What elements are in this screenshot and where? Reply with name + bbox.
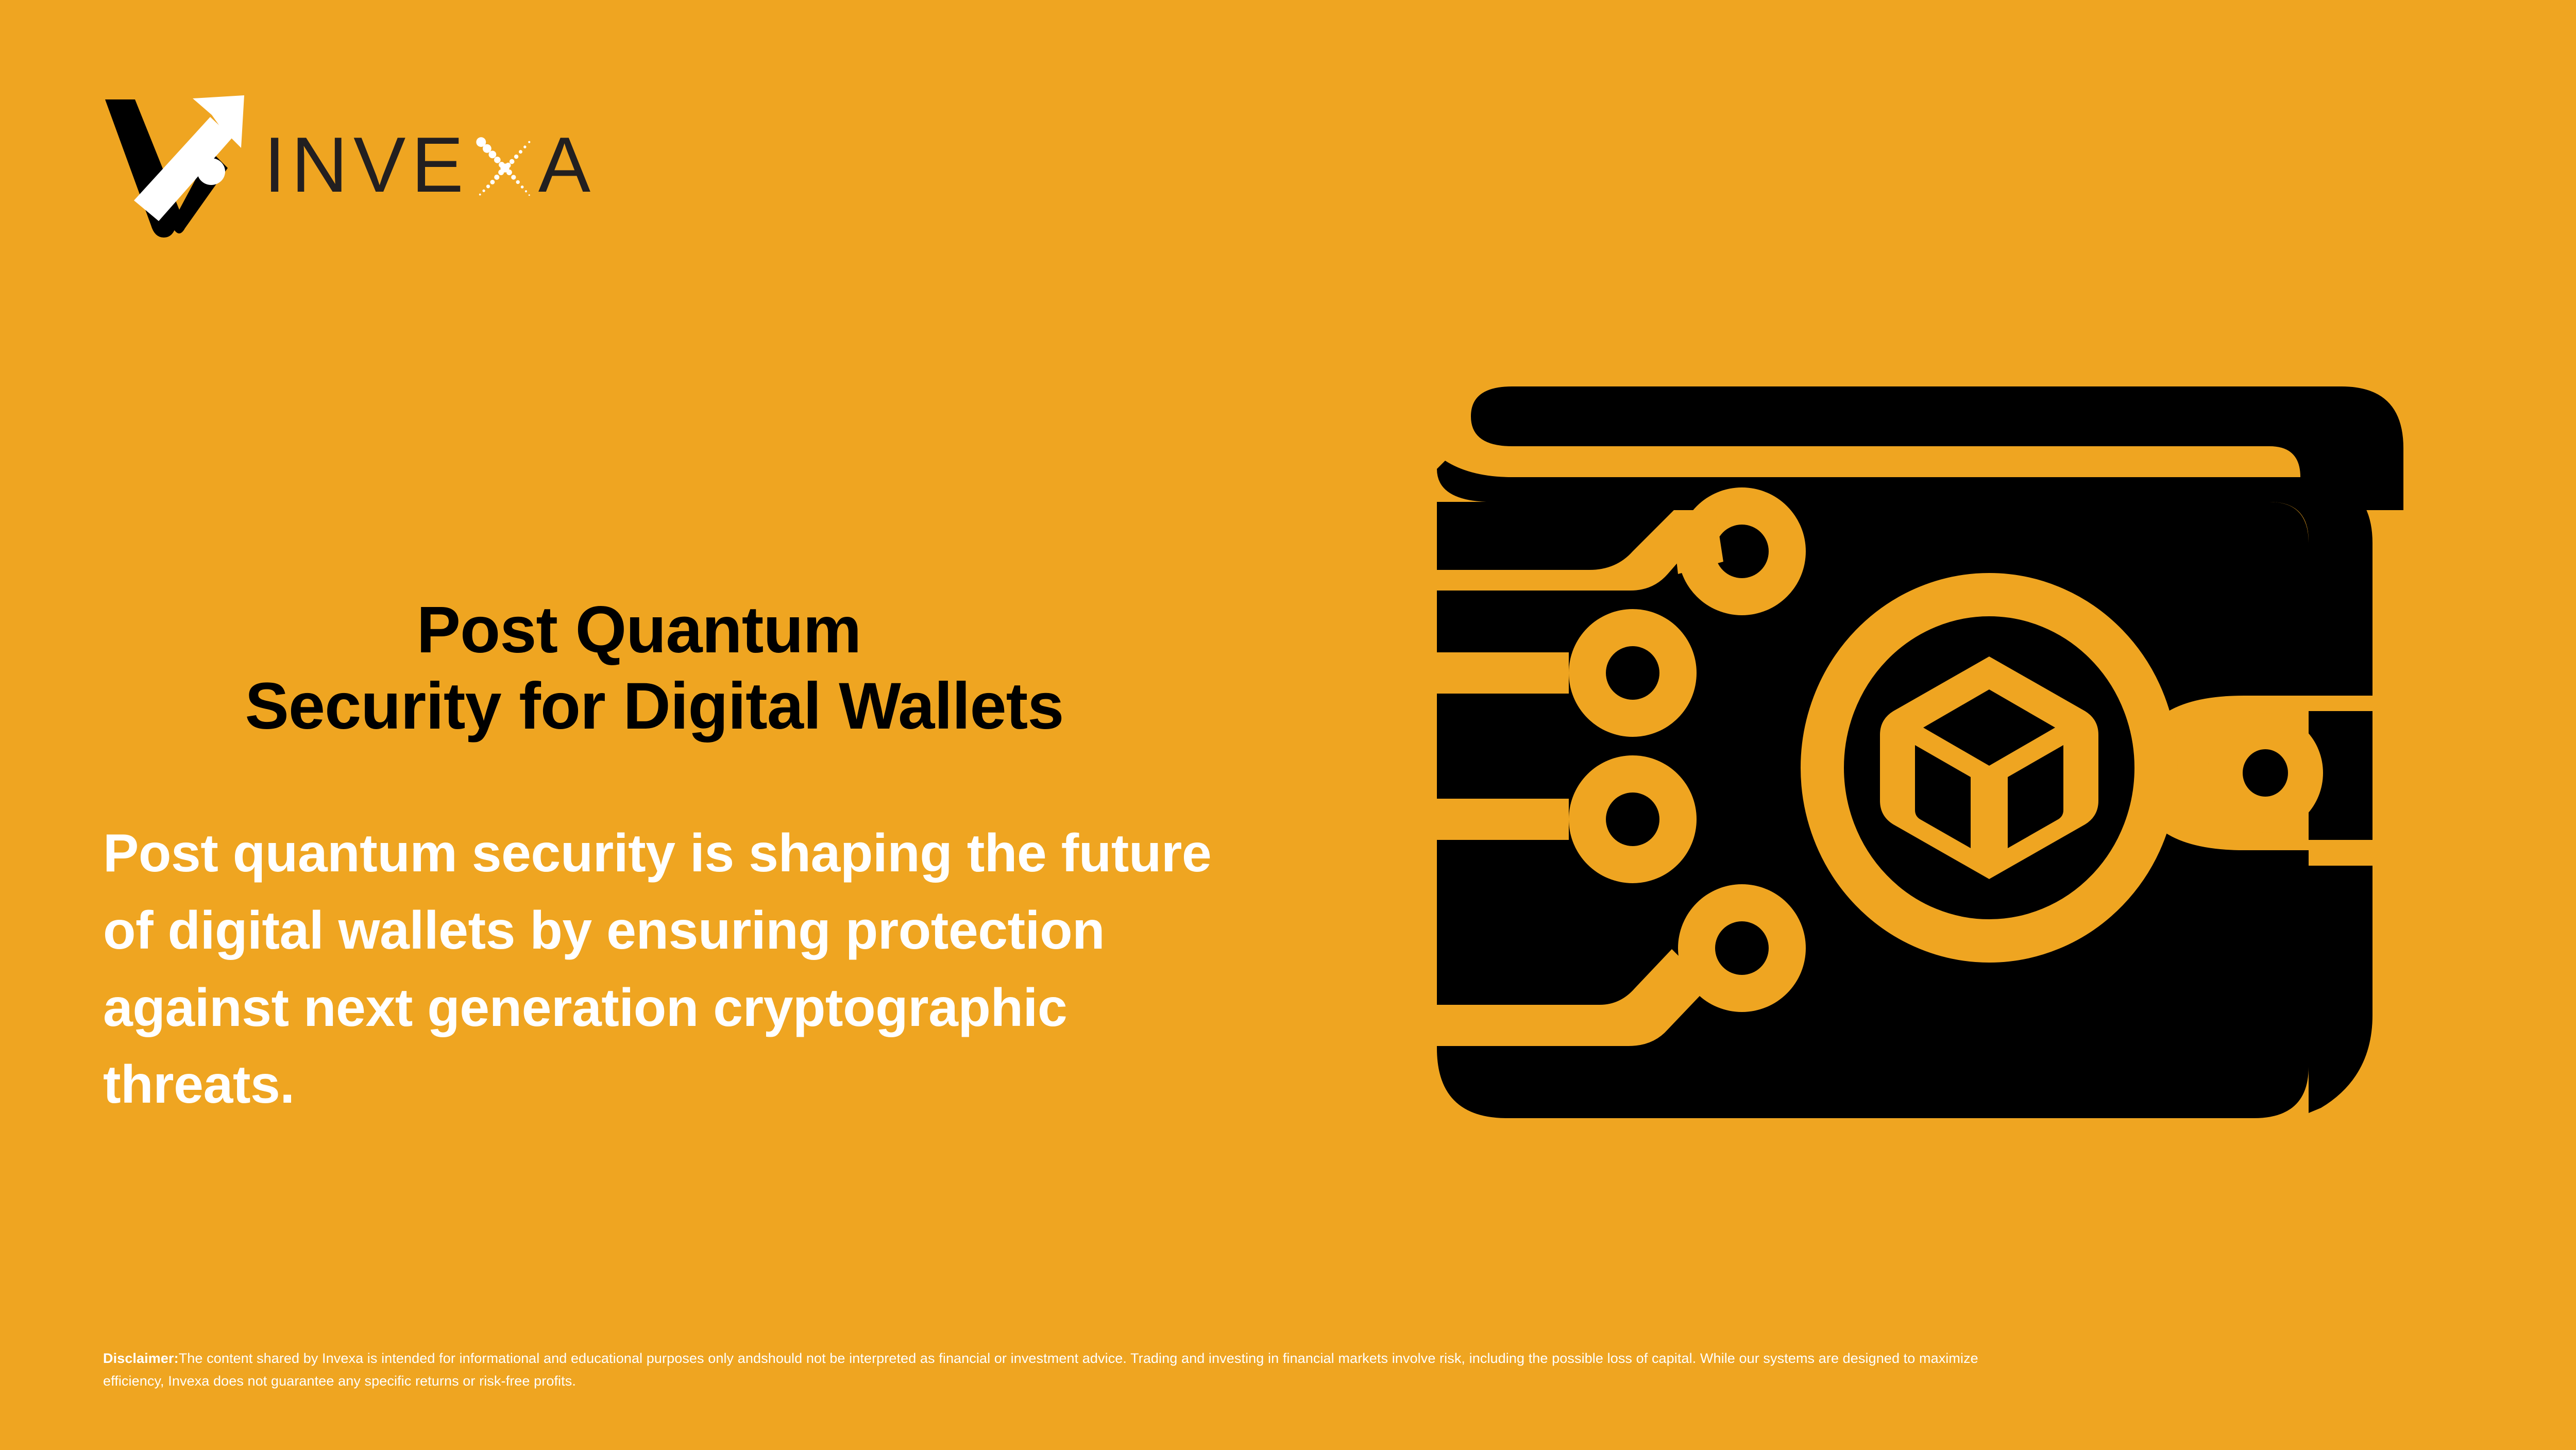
headline-line-2: Security for Digital Wallets <box>103 668 1206 745</box>
page-title: Post Quantum Security for Digital Wallet… <box>103 592 1206 745</box>
clasp-hole <box>2243 749 2288 797</box>
brand-logo[interactable]: INVE <box>101 90 596 240</box>
circuit-wallet-illustration <box>1414 356 2455 1190</box>
wordmark-a: A <box>538 126 596 204</box>
subcopy-paragraph: Post quantum security is shaping the fut… <box>103 815 1267 1124</box>
circuit-pad-hole-2 <box>1606 646 1659 700</box>
v-arrow-growth-icon <box>101 90 250 240</box>
circuit-trace-3 <box>1414 799 1569 840</box>
disclaimer-label: Disclaimer: <box>103 1351 179 1366</box>
disclaimer-body: The content shared by Invexa is intended… <box>103 1351 1978 1389</box>
circuit-pad-hole-1 <box>1715 525 1769 578</box>
circuit-pad-hole-3 <box>1606 793 1659 846</box>
circuit-pad-hole-4 <box>1715 921 1769 975</box>
headline-line-1: Post Quantum <box>103 592 1206 668</box>
poster-canvas: INVE <box>0 0 2576 1450</box>
wallet-svg <box>1414 356 2455 1190</box>
circuit-trace-2 <box>1414 652 1569 694</box>
dotted-x-icon <box>472 134 537 199</box>
wallet-bottom-right-tail <box>2309 866 2372 1113</box>
clasp-button <box>2208 713 2323 833</box>
brand-wordmark: INVE <box>264 90 596 240</box>
wordmark-invE: INVE <box>264 126 469 204</box>
disclaimer: Disclaimer:The content shared by Invexa … <box>103 1347 1989 1392</box>
